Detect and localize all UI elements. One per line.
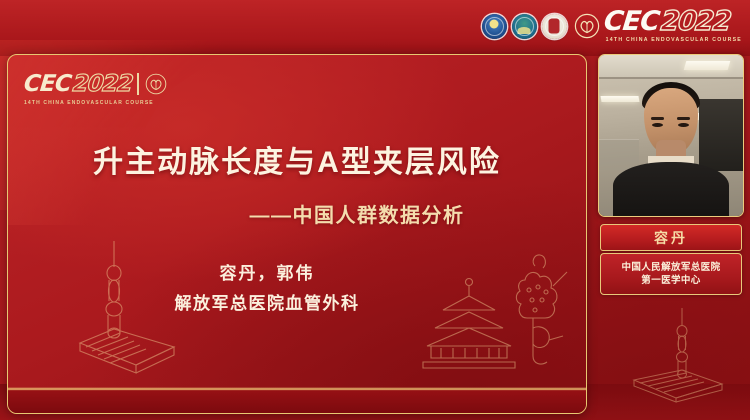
slide-bottom-band	[8, 387, 586, 413]
presenter-name-banner: 容丹	[600, 224, 742, 251]
presenter-name: 容丹	[654, 228, 688, 248]
cec-brand-name: CEC	[602, 8, 660, 35]
cec-wordmark: CEC 2022 14TH CHINA ENDOVASCULAR COURSE	[604, 8, 742, 43]
slide-subtitle: ——中国人群数据分析	[8, 199, 586, 228]
cec-brand-tagline: 14TH CHINA ENDOVASCULAR COURSE	[606, 38, 742, 43]
presentation-slide: CEC 2022 14TH CHINA ENDOVASCULAR COURSE …	[7, 54, 587, 414]
cec-butterfly-icon	[145, 73, 167, 95]
slide-brand-tagline: 14TH CHINA ENDOVASCULAR COURSE	[24, 100, 167, 106]
presenter-panel: 容丹 中国人民解放军总医院 第一医学中心	[598, 54, 744, 414]
slide-logo-divider	[137, 73, 138, 95]
org-logo-red-icon	[542, 14, 567, 39]
slide-brand-name: CEC	[23, 71, 73, 97]
organizer-logos	[482, 14, 567, 39]
slide-title: 升主动脉长度与A型夹层风险	[8, 137, 586, 181]
webinar-screen: CEC 2022 14TH CHINA ENDOVASCULAR COURSE	[0, 0, 750, 420]
presenter-affiliation-card: 中国人民解放军总医院 第一医学中心	[600, 253, 742, 295]
org-logo-teal-icon	[512, 14, 537, 39]
oriental-pearl-tower-icon	[604, 306, 738, 410]
presenter-affiliation-line-1: 中国人民解放军总医院	[621, 262, 720, 274]
slide-author: 容丹，郭伟	[8, 259, 586, 284]
presenter-video-tile[interactable]	[598, 54, 744, 217]
slide-affiliation: 解放军总医院血管外科	[8, 289, 586, 314]
cec-butterfly-icon	[574, 13, 600, 39]
org-logo-blue-icon	[482, 14, 507, 39]
header-bar: CEC 2022 14TH CHINA ENDOVASCULAR COURSE	[0, 0, 750, 52]
slide-cec-logo: CEC 2022 14TH CHINA ENDOVASCULAR COURSE	[24, 71, 167, 106]
presenter-webcam-feed	[599, 55, 743, 216]
presenter-affiliation-line-2: 第一医学中心	[641, 275, 700, 287]
cec-brand-year: 2022	[659, 8, 731, 35]
slide-brand-year: 2022	[72, 71, 134, 97]
